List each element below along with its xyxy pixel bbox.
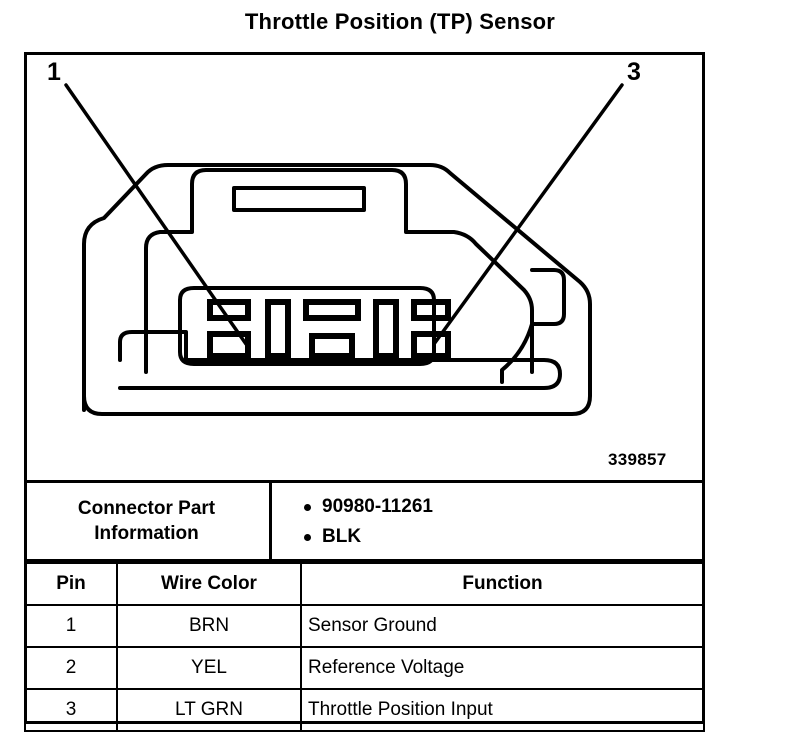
callout-label-1: 1 — [47, 58, 61, 86]
table-row: 1 BRN Sensor Ground — [25, 605, 704, 647]
leader-line-1 — [66, 85, 246, 344]
cell-function: Throttle Position Input — [301, 689, 704, 731]
pin-function-table: Pin Wire Color Function 1 BRN Sensor Gro… — [24, 562, 705, 732]
connector-inner-housing — [146, 170, 532, 372]
connector-part-information-row: Connector Part Information 90980-11261 B… — [24, 480, 705, 562]
cell-function: Sensor Ground — [301, 605, 704, 647]
cell-wire-color: BRN — [117, 605, 301, 647]
connector-color-code: BLK — [302, 522, 705, 552]
connector-part-number: 90980-11261 — [302, 492, 705, 522]
callout-label-3: 3 — [627, 58, 641, 86]
right-latch-ear — [532, 270, 564, 324]
page-title: Throttle Position (TP) Sensor — [0, 8, 800, 36]
cavity-slot-tall-2 — [376, 302, 396, 356]
cavity-slot-top-3 — [414, 302, 448, 318]
cell-wire-color: YEL — [117, 647, 301, 689]
leader-line-3 — [434, 85, 622, 344]
secondary-lock-bar — [120, 332, 560, 388]
cavity-slot-bottom-3 — [414, 334, 448, 356]
cell-wire-color: LT GRN — [117, 689, 301, 731]
cpi-label-line-1: Connector Part — [78, 496, 215, 521]
header-wire-color: Wire Color — [117, 563, 301, 605]
connector-face-view-page: Throttle Position (TP) Sensor — [0, 0, 800, 744]
cavity-slot-top-2 — [306, 302, 358, 318]
cavity-slot-tall-1 — [268, 302, 288, 356]
header-function: Function — [301, 563, 704, 605]
right-shoulder — [502, 324, 532, 382]
table-row: 2 YEL Reference Voltage — [25, 647, 704, 689]
cell-function: Reference Voltage — [301, 647, 704, 689]
latch-window — [234, 188, 364, 210]
cavity-slot-bottom-2 — [312, 336, 352, 356]
table-row: 3 LT GRN Throttle Position Input — [25, 689, 704, 731]
table-header-row: Pin Wire Color Function — [25, 563, 704, 605]
connector-part-information-label: Connector Part Information — [24, 483, 272, 559]
cell-pin: 1 — [25, 605, 117, 647]
cell-pin: 2 — [25, 647, 117, 689]
figure-number: 339857 — [608, 450, 667, 470]
header-pin: Pin — [25, 563, 117, 605]
connector-part-information-values: 90980-11261 BLK — [272, 483, 705, 559]
cavity-slot-top-1 — [210, 302, 248, 318]
cell-pin: 3 — [25, 689, 117, 731]
connector-illustration: 1 3 — [24, 52, 705, 480]
cpi-label-line-2: Information — [94, 521, 199, 546]
